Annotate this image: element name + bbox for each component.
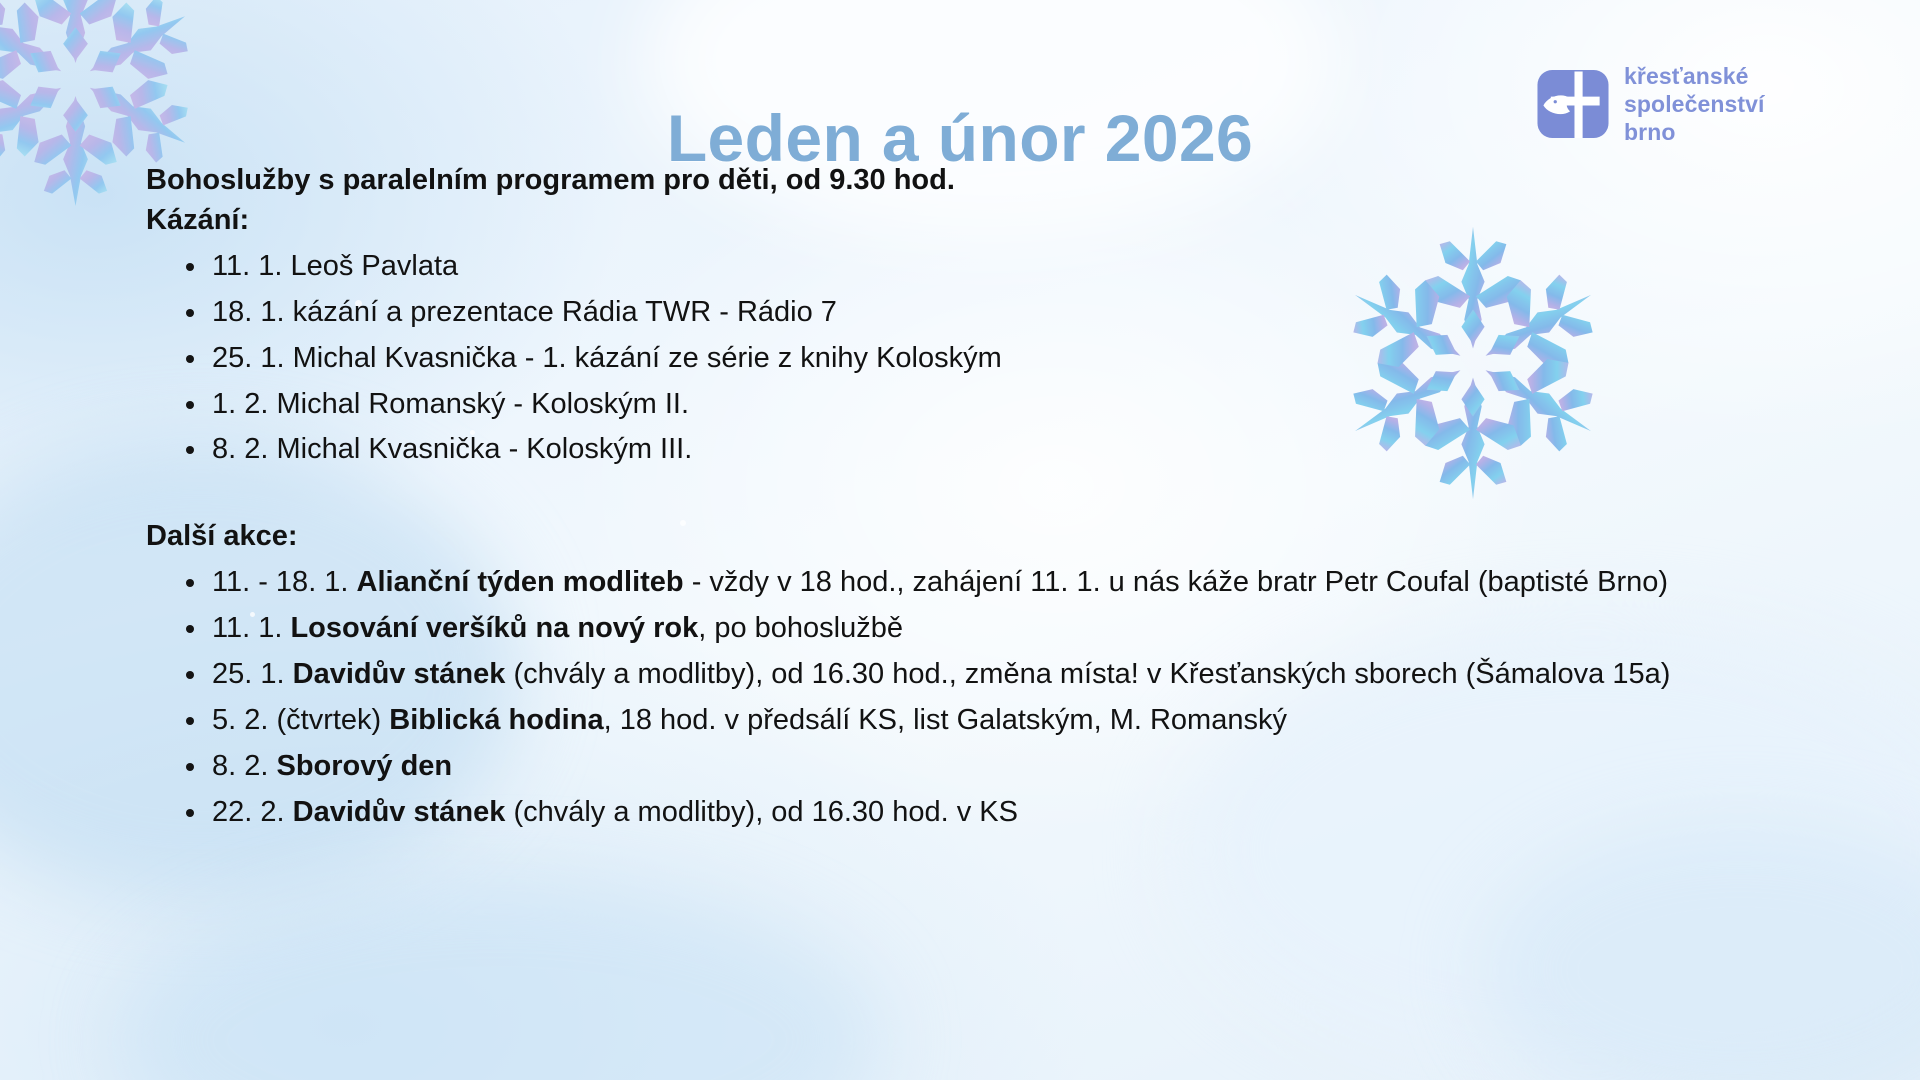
- event-item: 22. 2. Davidův stánek (chvály a modlitby…: [178, 793, 1786, 832]
- event-item-name: Sborový den: [277, 750, 453, 782]
- background-wash: [120, 880, 880, 1080]
- slide-canvas: Leden a únor 2026 křesťanské společenstv…: [0, 0, 1920, 1080]
- logo-wordmark: křesťanské společenství brno: [1624, 62, 1765, 146]
- service-item-date: 1. 2. Michal Romanský - Koloským II.: [212, 388, 689, 420]
- event-item-date: 22. 2.: [212, 796, 293, 828]
- event-item-detail: - vždy v 18 hod., zahájení 11. 1. u nás …: [684, 566, 1668, 598]
- service-item: 18. 1. kázání a prezentace Rádia TWR - R…: [178, 293, 1786, 332]
- event-item-detail: (chvály a modlitby), od 16.30 hod., změn…: [505, 658, 1670, 690]
- logo-line-1: křesťanské: [1624, 62, 1765, 90]
- event-item-date: 8. 2.: [212, 750, 277, 782]
- service-item-date: 8. 2. Michal Kvasnička - Koloským III.: [212, 433, 692, 465]
- event-item-detail: , po bohoslužbě: [698, 612, 903, 644]
- slide-content: Bohoslužby s paralelním programem pro dě…: [146, 160, 1786, 839]
- event-item-detail: , 18 hod. v předsálí KS, list Galatským,…: [604, 704, 1287, 736]
- event-item: 8. 2. Sborový den: [178, 747, 1786, 786]
- event-item-name: Biblická hodina: [389, 704, 603, 736]
- events-list: 11. - 18. 1. Alianční týden modliteb - v…: [146, 563, 1786, 831]
- logo-line-3: brno: [1624, 118, 1765, 146]
- service-item-date: 11. 1. Leoš Pavlata: [212, 250, 458, 282]
- services-list: 11. 1. Leoš Pavlata18. 1. kázání a preze…: [146, 247, 1786, 469]
- event-item-name: Losování veršíků na nový rok: [290, 612, 698, 644]
- event-item: 11. - 18. 1. Alianční týden modliteb - v…: [178, 563, 1786, 602]
- services-lead: Bohoslužby s paralelním programem pro dě…: [146, 160, 1786, 200]
- event-item-date: 25. 1.: [212, 658, 293, 690]
- service-item: 11. 1. Leoš Pavlata: [178, 247, 1786, 286]
- background-wash: [1480, 820, 1920, 1080]
- event-item: 25. 1. Davidův stánek (chvály a modlitby…: [178, 655, 1786, 694]
- event-item-name: Alianční týden modliteb: [357, 566, 684, 598]
- event-item-date: 11. - 18. 1.: [212, 566, 357, 598]
- service-item: 8. 2. Michal Kvasnička - Koloským III.: [178, 430, 1786, 469]
- event-item-detail: (chvály a modlitby), od 16.30 hod. v KS: [505, 796, 1018, 828]
- spacer: [146, 476, 1786, 516]
- event-item: 5. 2. (čtvrtek) Biblická hodina, 18 hod.…: [178, 701, 1786, 740]
- events-heading: Další akce:: [146, 516, 1786, 556]
- event-item: 11. 1. Losování veršíků na nový rok, po …: [178, 609, 1786, 648]
- event-item-name: Davidův stánek: [293, 796, 506, 828]
- service-item-date: 25. 1. Michal Kvasnička - 1. kázání ze s…: [212, 342, 1002, 374]
- cross-fish-logo-icon: [1536, 67, 1610, 141]
- event-item-name: Davidův stánek: [293, 658, 506, 690]
- event-item-date: 5. 2. (čtvrtek): [212, 704, 389, 736]
- logo-line-2: společenství: [1624, 90, 1765, 118]
- service-item: 1. 2. Michal Romanský - Koloským II.: [178, 385, 1786, 424]
- service-item-date: 18. 1. kázání a prezentace Rádia TWR - R…: [212, 296, 837, 328]
- services-heading: Kázání:: [146, 200, 1786, 240]
- service-item: 25. 1. Michal Kvasnička - 1. kázání ze s…: [178, 339, 1786, 378]
- organization-logo: křesťanské společenství brno: [1536, 62, 1765, 146]
- event-item-date: 11. 1.: [212, 612, 290, 644]
